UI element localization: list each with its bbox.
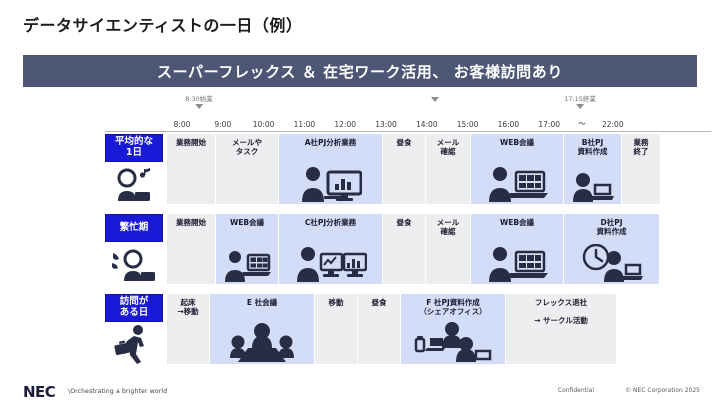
schedule-cell-label: C社PJ分析業務 xyxy=(304,218,357,227)
schedule-row: 平均的な 1日業務開始メールや タスクA社PJ分析業務昼食メール 確認WEB会議… xyxy=(105,134,661,204)
person-music-icon xyxy=(105,164,163,204)
schedule-cell[interactable]: 業務 終了 xyxy=(622,134,660,204)
schedule-cell-label: メールや タスク xyxy=(231,138,263,156)
schedule-cell[interactable]: 昼食 xyxy=(358,294,400,364)
axis-tick: 11:00 xyxy=(294,120,316,129)
schedule-cell-label: フレックス退社 → サークル活動 xyxy=(533,298,589,325)
axis-marker: 17:15終業 xyxy=(564,96,596,109)
schedule-cell[interactable]: メール 確認 xyxy=(426,214,470,284)
schedule-cell[interactable]: A社PJ分析業務 xyxy=(279,134,382,204)
schedule-cell-label: 業務開始 xyxy=(175,138,207,147)
axis-tick: 10:00 xyxy=(253,120,275,129)
axis-tick: 13:00 xyxy=(375,120,397,129)
schedule-cell[interactable]: 昼食 xyxy=(383,134,425,204)
banner-text: スーパーフレックス ＆ 在宅ワーク活用、 お客様訪問あり xyxy=(157,61,563,82)
schedule-cell[interactable]: メールや タスク xyxy=(216,134,278,204)
axis-tick: 12:00 xyxy=(334,120,356,129)
schedule-cell[interactable]: D社PJ 資料作成 xyxy=(564,214,659,284)
nec-tagline: \Orchestrating a brighter world xyxy=(68,388,167,395)
copyright-label: © NEC Corporation 2025 xyxy=(625,387,700,394)
row-label-text: 訪問が ある日 xyxy=(120,297,149,319)
schedule-cell-label: B社PJ 資料作成 xyxy=(577,138,609,156)
footer: NEC \Orchestrating a brighter world Conf… xyxy=(0,377,720,405)
shared-office-icon xyxy=(401,316,505,364)
slide-root: データサイエンティストの一日（例） スーパーフレックス ＆ 在宅ワーク活用、 お… xyxy=(0,0,720,405)
schedule-cell-label: メール 確認 xyxy=(436,218,461,236)
clock-person-laptop-icon xyxy=(564,236,659,284)
schedule-cell-label: 昼食 xyxy=(396,218,413,227)
axis-tick: 22:00 xyxy=(602,120,624,129)
row-label-badge[interactable]: 平均的な 1日 xyxy=(105,134,163,162)
schedule-row: 繁忙期業務開始WEB会議C社PJ分析業務昼食メール 確認WEB会議D社PJ 資料… xyxy=(105,214,660,284)
schedule-cell[interactable]: 業務開始 xyxy=(167,214,215,284)
axis-marker: 8:30始業 xyxy=(185,96,213,109)
axis-tick: 14:00 xyxy=(416,120,438,129)
axis-tick: 8:00 xyxy=(174,120,191,129)
axis-marker-arrow-icon xyxy=(431,97,439,102)
timeline-axis: 8:009:0010:0011:0012:0013:0014:0015:0016… xyxy=(105,96,711,132)
schedule-cell-label: F 社PJ資料作成 （シェアオフィス） xyxy=(418,298,487,316)
row-label-badge[interactable]: 訪問が ある日 xyxy=(105,294,163,322)
schedule-cell[interactable]: 起床 →移動 xyxy=(167,294,209,364)
axis-tick: ～ xyxy=(578,118,586,129)
axis-rule xyxy=(105,131,711,132)
row-label-group: 平均的な 1日 xyxy=(105,134,163,204)
person-laptop-meeting-icon xyxy=(471,227,563,284)
banner: スーパーフレックス ＆ 在宅ワーク活用、 お客様訪問あり xyxy=(23,55,697,87)
axis-marker-label: 8:30始業 xyxy=(185,96,213,103)
schedule-cell-label: WEB会議 xyxy=(229,218,265,227)
schedule-cell[interactable]: WEB会議 xyxy=(471,134,563,204)
schedule-row: 訪問が ある日起床 →移動E 社会議移動昼食F 社PJ資料作成 （シェアオフィス… xyxy=(105,294,617,364)
row-label-badge[interactable]: 繁忙期 xyxy=(105,214,163,242)
schedule-cell[interactable]: WEB会議 xyxy=(471,214,563,284)
axis-marker-arrow-icon xyxy=(576,104,584,109)
schedule-cell[interactable]: フレックス退社 → サークル活動 xyxy=(506,294,616,364)
page-title: データサイエンティストの一日（例） xyxy=(23,12,302,36)
axis-tick: 16:00 xyxy=(498,120,520,129)
person-desktop-chart-icon xyxy=(279,147,382,204)
schedule-cell-label: 業務開始 xyxy=(175,218,207,227)
axis-tick: 9:00 xyxy=(214,120,231,129)
schedule-cell[interactable]: F 社PJ資料作成 （シェアオフィス） xyxy=(401,294,505,364)
schedule-cell-label: A社PJ分析業務 xyxy=(304,138,358,147)
row-label-group: 繁忙期 xyxy=(105,214,163,284)
schedule-cell-label: 昼食 xyxy=(371,298,388,307)
schedule-cell-label: 移動 xyxy=(328,298,345,307)
confidential-label: Confidential xyxy=(558,387,594,394)
axis-tick: 15:00 xyxy=(457,120,479,129)
row-label-text: 繁忙期 xyxy=(120,223,149,234)
schedule-cell[interactable]: WEB会議 xyxy=(216,214,278,284)
walking-briefcase-icon xyxy=(105,324,163,364)
meeting-table-icon xyxy=(210,307,314,364)
schedule-cell-label: E 社会議 xyxy=(246,298,278,307)
schedule-cell-label: 昼食 xyxy=(396,138,413,147)
schedule-cell-label: 起床 →移動 xyxy=(176,298,199,316)
row-label-group: 訪問が ある日 xyxy=(105,294,163,364)
schedule-cell-label: WEB会議 xyxy=(499,218,535,227)
schedule-cell[interactable]: E 社会議 xyxy=(210,294,314,364)
nec-logo: NEC xyxy=(23,383,55,401)
axis-tick: 17:00 xyxy=(538,120,560,129)
schedule-cell[interactable]: B社PJ 資料作成 xyxy=(564,134,621,204)
schedule-cell-label: WEB会議 xyxy=(499,138,535,147)
schedule-cell[interactable]: 業務開始 xyxy=(167,134,215,204)
axis-marker-label: 17:15終業 xyxy=(564,96,596,103)
person-laptop-icon xyxy=(564,156,621,204)
person-sweat-icon xyxy=(105,244,163,284)
schedule-cell-label: 業務 終了 xyxy=(633,138,650,156)
person-laptop-meeting-icon xyxy=(471,147,563,204)
schedule-cell[interactable]: C社PJ分析業務 xyxy=(279,214,382,284)
person-laptop-meeting-small-icon xyxy=(216,227,278,284)
schedule-cell[interactable]: 移動 xyxy=(315,294,357,364)
schedule-cell[interactable]: 昼食 xyxy=(383,214,425,284)
axis-marker xyxy=(431,96,439,102)
schedule-cell-label: D社PJ 資料作成 xyxy=(596,218,628,236)
axis-marker-arrow-icon xyxy=(195,104,203,109)
schedule-cell-label: メール 確認 xyxy=(436,138,461,156)
schedule-cell[interactable]: メール 確認 xyxy=(426,134,470,204)
row-label-text: 平均的な 1日 xyxy=(115,137,153,159)
person-dual-monitor-icon xyxy=(279,227,382,284)
